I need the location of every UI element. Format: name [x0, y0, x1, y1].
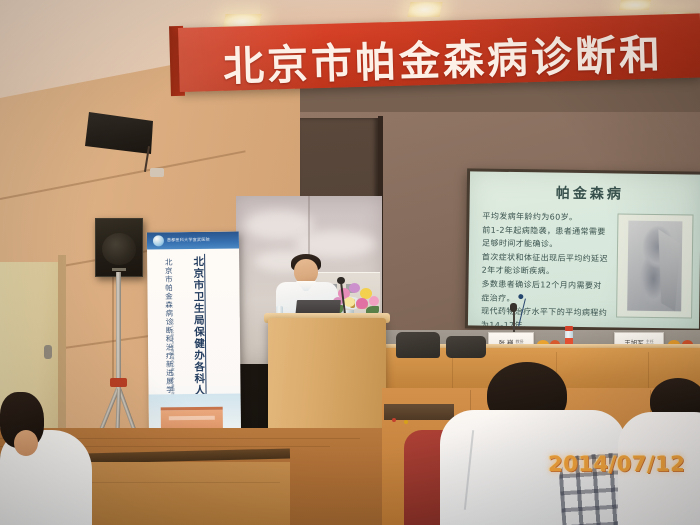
door-frame — [58, 255, 66, 445]
rollup-main-title: 北京市卫生局保健办各科人才队伍建设项目 — [191, 256, 208, 406]
podium — [268, 318, 386, 428]
ceiling-light-panel — [619, 0, 651, 10]
speaker-badge — [112, 268, 126, 271]
speaker-stand-pole — [116, 272, 121, 394]
slide-illustration-frame — [616, 213, 693, 318]
slide-line: 前1-2年起病隐袭，患者通常需要足够时间才能确诊。 — [482, 223, 610, 252]
hospital-logo-icon — [153, 235, 164, 246]
speaker-cone-icon — [102, 233, 136, 265]
red-event-banner: 北京市帕金森病诊断和 — [178, 13, 700, 92]
parkinson-posture-figure — [627, 221, 682, 312]
podium-microphone-icon — [337, 277, 345, 284]
projection-screen: 帕金森病 平均发病年龄约为60岁。前1-2年起病隐袭，患者通常需要足够时间才能确… — [468, 171, 700, 328]
slide-line: 现代药物治疗水平下的平均病程约为14-17年。 — [481, 305, 609, 329]
rollup-header-bar: 首都医科大学宣武医院 — [147, 232, 239, 250]
slide-line: 多数患者确诊后12个月内需要对症治疗。 — [481, 278, 609, 307]
wall-seam — [0, 150, 246, 200]
stand-adjust-collar[interactable] — [110, 378, 127, 387]
clutter-item — [404, 420, 408, 424]
rollup-banner: 首都医科大学宣武医院 北京市卫生局保健办各科人才队伍建设项目 北京市帕金森病诊断… — [147, 232, 241, 451]
slide-line: 首次症状和体征出现后平均约延迟2年才能诊断疾病。 — [482, 250, 610, 279]
chair[interactable] — [396, 332, 440, 358]
flower-bloom — [349, 283, 360, 293]
ceiling-light-panel — [407, 2, 442, 17]
speaker-mount — [150, 168, 164, 177]
laser-pointer-dot — [518, 294, 523, 299]
wall-seam — [112, 262, 114, 382]
camera-timestamp: 2014/07/12 — [548, 452, 685, 476]
audience-hand — [14, 430, 38, 456]
flower-bloom — [344, 297, 355, 307]
banner-text: 北京市帕金森病诊断和 — [222, 20, 664, 91]
rollup-logo-text: 首都医科大学宣武医院 — [167, 237, 210, 243]
slide-title: 帕金森病 — [556, 183, 624, 204]
slide-line: 平均发病年龄约为60岁。 — [482, 210, 610, 225]
clutter-item — [392, 418, 396, 422]
pa-speaker — [95, 218, 143, 277]
speaker-head — [294, 259, 318, 284]
conference-photo: 北京市帕金森病诊断和 首都医科大学宣武医院 北京市卫生局保健办各科人才 — [0, 0, 700, 525]
rollup-organizer-text: 主办：北京市卫生局保健办公室 承办：首都医科大学宣武医院神经内科与国家老年疾病中… — [170, 318, 176, 380]
bottle-cap — [565, 326, 573, 331]
table-microphone-icon — [510, 303, 517, 312]
chair[interactable] — [446, 336, 486, 358]
flower-bloom — [369, 296, 379, 306]
slide-body-text: 平均发病年龄约为60岁。前1-2年起病隐袭，患者通常需要足够时间才能确诊。首次症… — [481, 210, 611, 329]
door-handle[interactable] — [44, 345, 52, 359]
